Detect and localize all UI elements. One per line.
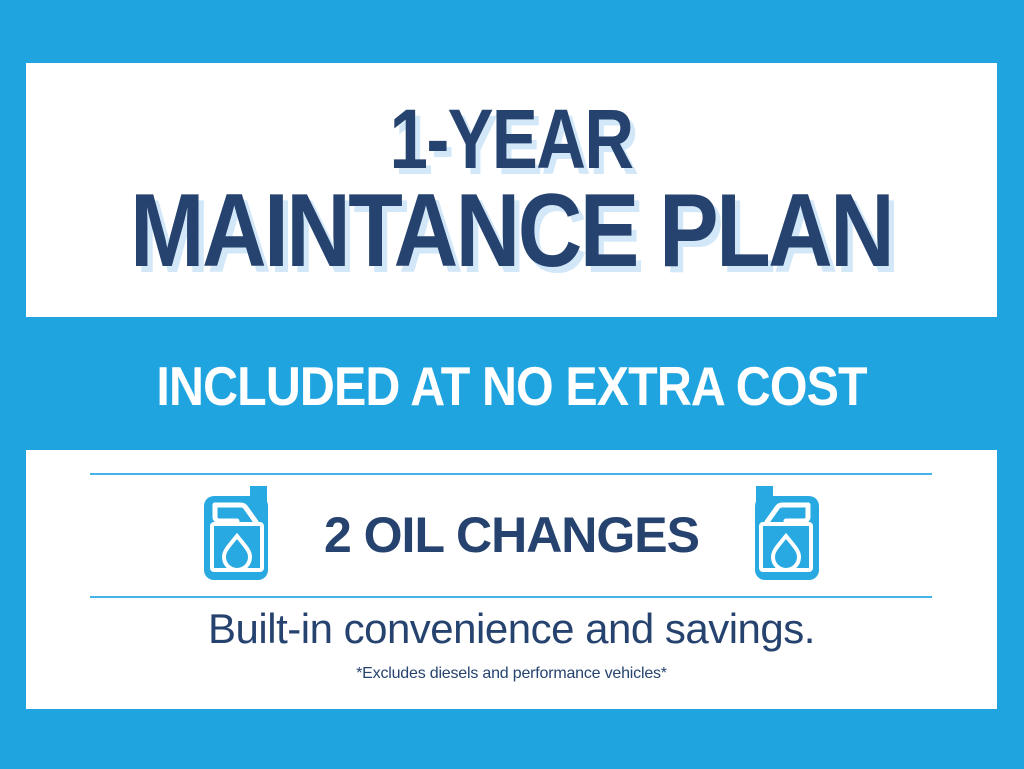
details-card: 2 OIL CHANGES Built-in convenience and s… (26, 450, 997, 709)
oil-jug-icon (202, 486, 278, 583)
headline-line-2: MAINTANCE PLAN (130, 184, 892, 280)
oil-jug-icon (745, 486, 821, 583)
subtitle-band: INCLUDED AT NO EXTRA COST (0, 340, 1024, 432)
fineprint-disclaimer: *Excludes diesels and performance vehicl… (26, 665, 997, 683)
oil-changes-label: 2 OIL CHANGES (324, 506, 699, 564)
oil-changes-row: 2 OIL CHANGES (26, 473, 997, 596)
tagline: Built-in convenience and savings. (26, 605, 997, 653)
subtitle-text: INCLUDED AT NO EXTRA COST (157, 354, 867, 418)
headline-line-1: 1-YEAR (390, 101, 633, 178)
headline-card: 1-YEAR MAINTANCE PLAN (26, 63, 997, 317)
divider-bottom (90, 596, 932, 598)
